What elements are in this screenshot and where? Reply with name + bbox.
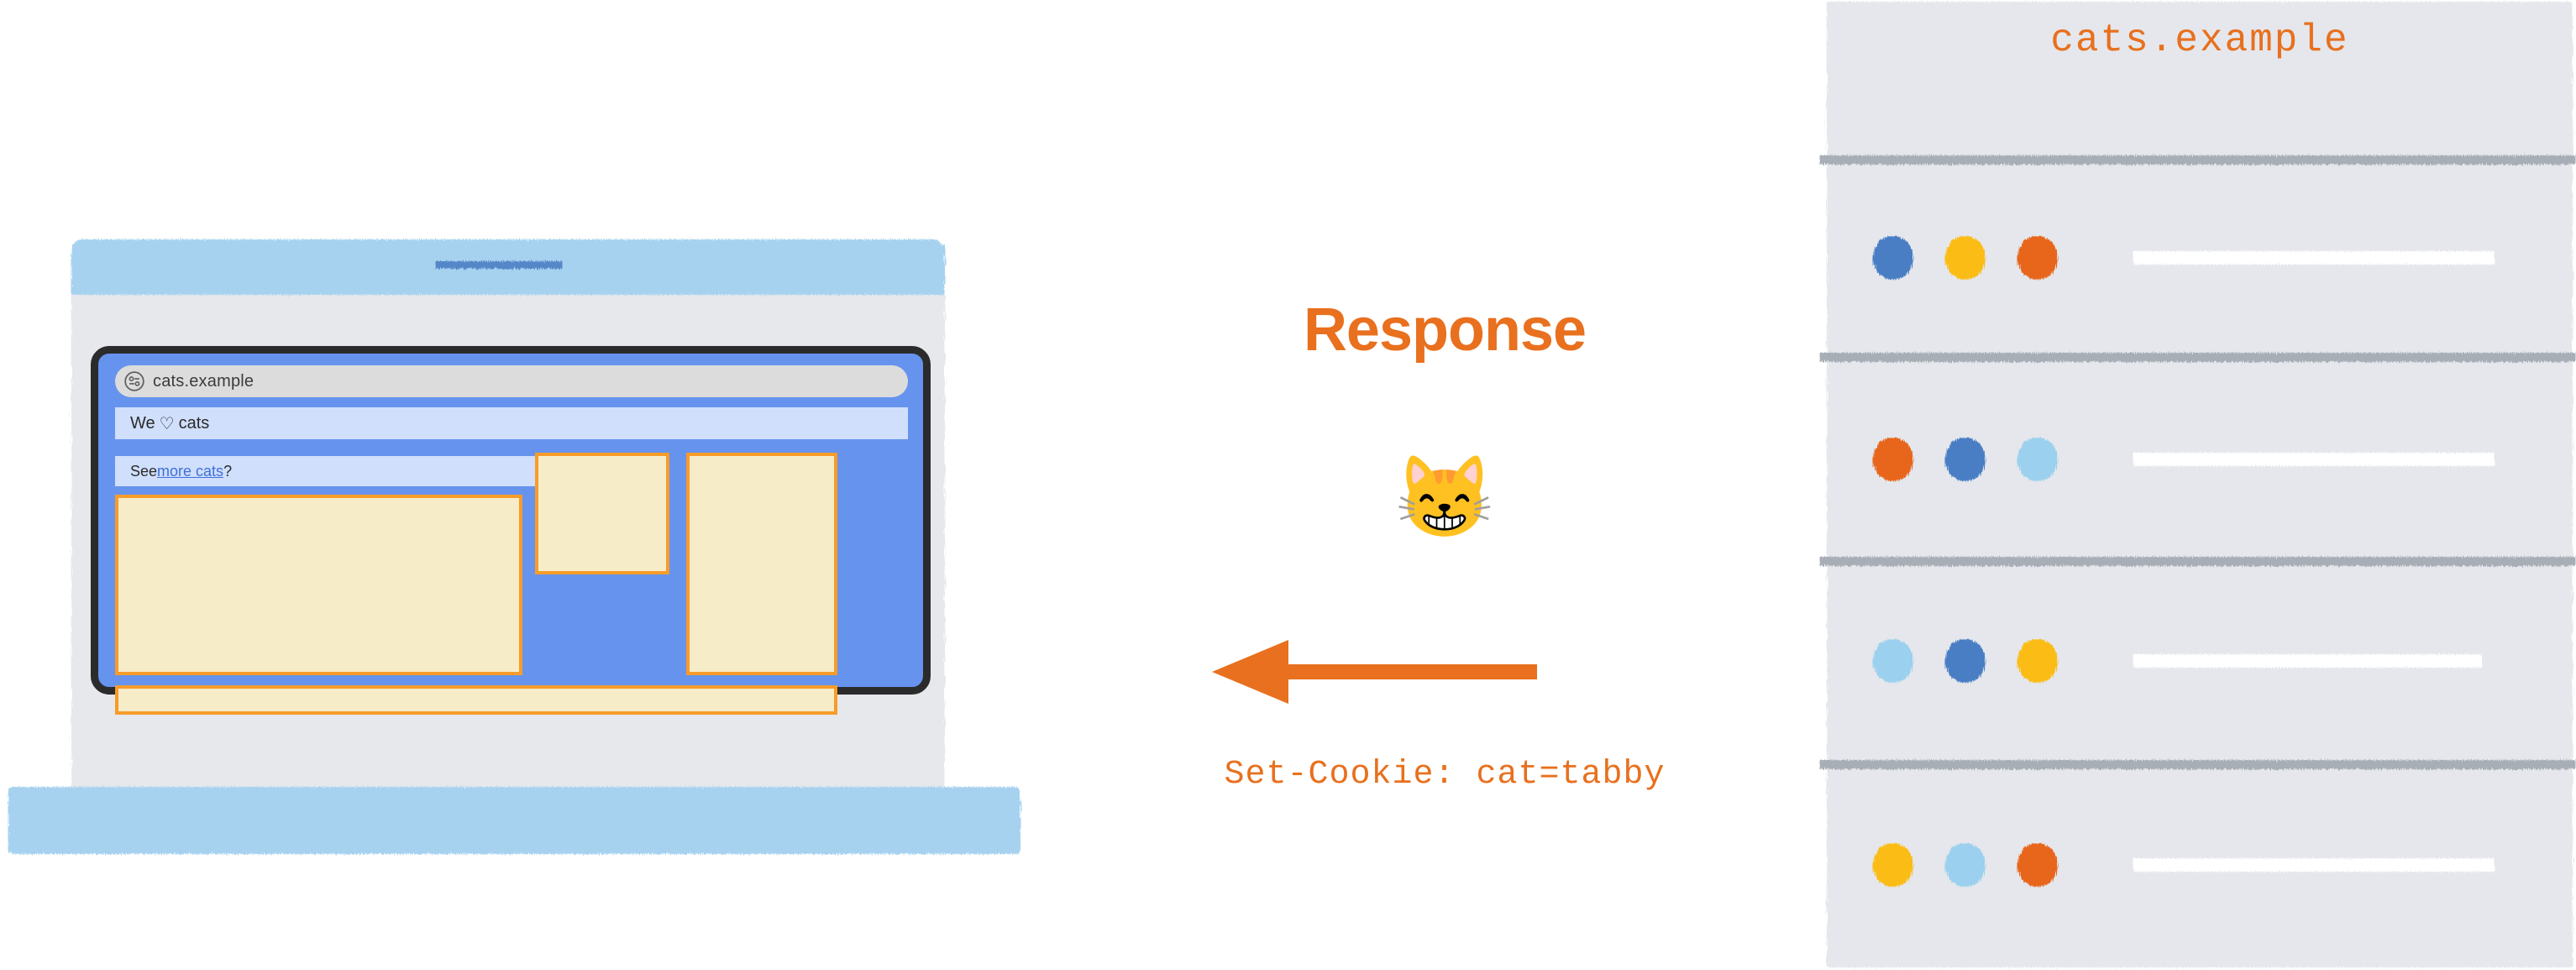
tall-right-content-block	[686, 453, 837, 675]
server-row-dot	[1873, 236, 1913, 280]
page-heading: We ♡ cats	[115, 407, 908, 439]
server-row	[1827, 430, 2573, 489]
browser-window: cats.example We ♡ cats See more cats ?	[91, 346, 931, 695]
server-row-dot	[1873, 438, 1913, 481]
server-title: cats.example	[1827, 18, 2573, 62]
page-heading-prefix: We	[130, 414, 155, 433]
url-text: cats.example	[153, 372, 254, 391]
server-row-dot	[1945, 639, 1986, 683]
more-cats-link[interactable]: more cats	[157, 463, 223, 480]
server-row-dot	[1873, 843, 1913, 887]
link-row-suffix: ?	[223, 463, 232, 480]
server-row-dot	[1945, 236, 1986, 280]
server-row-dot	[1945, 438, 1986, 481]
server-row-bar	[2133, 251, 2495, 265]
laptop-illustration: cats.example We ♡ cats See more cats ?	[0, 214, 1083, 911]
set-cookie-header-text: Set-Cookie: cat=tabby	[1083, 756, 1806, 794]
server-row-dot	[1873, 639, 1913, 683]
server-row-divider	[1820, 557, 2576, 566]
server-row-dot	[1945, 843, 1986, 887]
response-arrow-left-icon	[1083, 626, 1806, 718]
server-row-bar	[2133, 858, 2495, 872]
more-cats-row: See more cats ?	[115, 456, 538, 486]
server-row-dot	[2017, 438, 2058, 481]
server-row-dot	[2017, 639, 2058, 683]
server-row	[1827, 632, 2573, 690]
footer-content-block	[115, 685, 837, 715]
server-row	[1827, 228, 2573, 287]
webcam-notch-icon	[436, 261, 562, 269]
server-row-divider	[1820, 155, 2576, 165]
response-title: Response	[1083, 296, 1806, 364]
server-row-dot	[2017, 843, 2058, 887]
cat-face-icon: 😸	[1083, 458, 1806, 538]
page-heading-suffix: cats	[179, 414, 210, 433]
site-settings-tune-icon[interactable]	[123, 370, 145, 392]
server-row	[1827, 836, 2573, 894]
server-panel: cats.example	[1827, 0, 2576, 970]
server-row-dot	[2017, 236, 2058, 280]
laptop-base	[8, 787, 1020, 854]
laptop-lid-top	[71, 239, 945, 298]
server-row-divider	[1820, 760, 2576, 769]
response-column: Response 😸 Set-Cookie: cat=tabby	[1083, 0, 1806, 970]
browser-url-bar[interactable]: cats.example	[115, 365, 908, 397]
server-row-divider	[1820, 353, 2576, 362]
top-right-content-block	[535, 453, 669, 574]
heart-icon: ♡	[160, 413, 175, 434]
server-row-bar	[2133, 453, 2495, 466]
main-content-block	[115, 495, 522, 675]
server-row-bar	[2133, 654, 2482, 668]
link-row-prefix: See	[130, 463, 157, 480]
